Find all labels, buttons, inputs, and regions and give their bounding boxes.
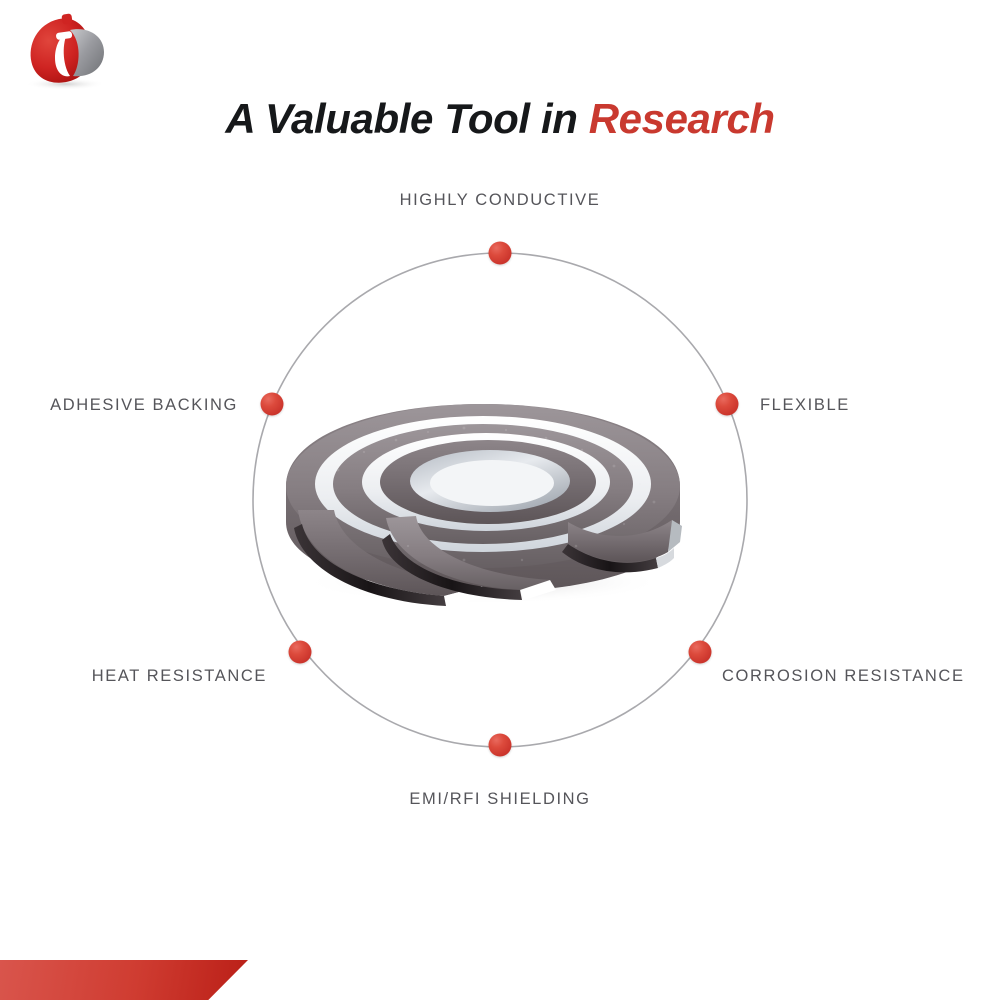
node-label-corrosion-resistance: CORROSION RESISTANCE	[722, 668, 965, 685]
node-label-highly-conductive: HIGHLY CONDUCTIVE	[400, 192, 601, 209]
node-dot-corrosion-resistance[interactable]	[689, 641, 712, 664]
node-dot-adhesive-backing[interactable]	[261, 393, 284, 416]
node-dot-flexible[interactable]	[716, 393, 739, 416]
tape-roll-illustration-icon	[268, 400, 698, 615]
node-label-heat-resistance: HEAT RESISTANCE	[92, 668, 267, 685]
node-label-emi-rfi-shielding: EMI/RFI SHIELDING	[409, 791, 590, 808]
radial-feature-diagram: HIGHLY CONDUCTIVE FLEXIBLE CORROSION RES…	[0, 0, 1000, 1000]
bottom-accent-banner	[0, 960, 248, 1000]
conductive-tape-roll-photo	[268, 400, 698, 615]
node-label-adhesive-backing: ADHESIVE BACKING	[50, 397, 238, 414]
node-label-flexible: FLEXIBLE	[760, 397, 850, 414]
node-dot-emi-rfi-shielding[interactable]	[489, 734, 512, 757]
infographic-canvas: A Valuable Tool in Research	[0, 0, 1000, 1000]
node-dot-heat-resistance[interactable]	[289, 641, 312, 664]
node-dot-highly-conductive[interactable]	[489, 242, 512, 265]
